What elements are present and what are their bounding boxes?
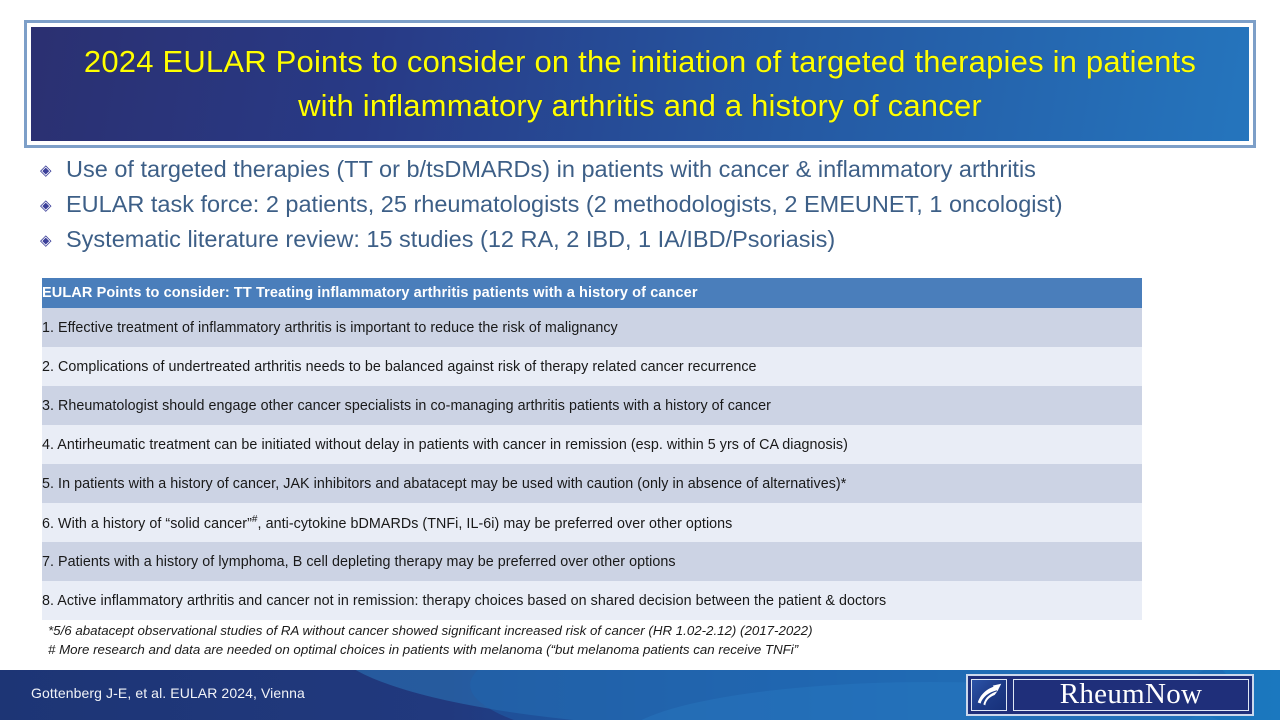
table-header-label: EULAR Points to consider: TT Treating in… (42, 278, 1142, 308)
point-text: 4. Antirheumatic treatment can be initia… (42, 425, 1142, 464)
point-text: 8. Active inflammatory arthritis and can… (42, 581, 1142, 620)
rheumnow-wordmark: RheumNow (1013, 679, 1249, 711)
point-text: 5. In patients with a history of cancer,… (42, 464, 1142, 503)
table-row: 6. With a history of “solid cancer”#, an… (42, 503, 1142, 542)
point-text-with-superscript: 6. With a history of “solid cancer”#, an… (42, 503, 1142, 542)
bullet-label: Systematic literature review: 15 studies… (66, 226, 835, 253)
point-text: 2. Complications of undertreated arthrit… (42, 347, 1142, 386)
point-text: 7. Patients with a history of lymphoma, … (42, 542, 1142, 581)
table-row: 5. In patients with a history of cancer,… (42, 464, 1142, 503)
table-row: 4. Antirheumatic treatment can be initia… (42, 425, 1142, 464)
slide-canvas: 2024 EULAR Points to consider on the ini… (0, 0, 1280, 720)
diamond-bullet-icon: ◈ (40, 163, 66, 178)
footnote-asterisk: *5/6 abatacept observational studies of … (48, 622, 1148, 641)
diamond-bullet-icon: ◈ (40, 198, 66, 213)
table-row: 2. Complications of undertreated arthrit… (42, 347, 1142, 386)
title-banner-fill: 2024 EULAR Points to consider on the ini… (31, 27, 1249, 141)
bullet-label: EULAR task force: 2 patients, 25 rheumat… (66, 191, 1063, 218)
point-text: 3. Rheumatologist should engage other ca… (42, 386, 1142, 425)
title-banner: 2024 EULAR Points to consider on the ini… (24, 20, 1256, 148)
table-row: 1. Effective treatment of inflammatory a… (42, 308, 1142, 347)
rheumnow-logo: RheumNow (966, 674, 1254, 716)
diamond-bullet-icon: ◈ (40, 233, 66, 248)
list-item: ◈ EULAR task force: 2 patients, 25 rheum… (40, 191, 1240, 226)
table-row: 8. Active inflammatory arthritis and can… (42, 581, 1142, 620)
list-item: ◈ Use of targeted therapies (TT or b/tsD… (40, 156, 1240, 191)
page-title: 2024 EULAR Points to consider on the ini… (31, 40, 1249, 128)
table-row: 7. Patients with a history of lymphoma, … (42, 542, 1142, 581)
list-item: ◈ Systematic literature review: 15 studi… (40, 226, 1240, 261)
swoosh-icon-svg (972, 680, 1006, 710)
footnote-hash: # More research and data are needed on o… (48, 641, 1148, 660)
summary-bullet-list: ◈ Use of targeted therapies (TT or b/tsD… (40, 156, 1240, 261)
table-row: 3. Rheumatologist should engage other ca… (42, 386, 1142, 425)
points-to-consider-table: EULAR Points to consider: TT Treating in… (42, 278, 1142, 620)
citation-text: Gottenberg J-E, et al. EULAR 2024, Vienn… (31, 685, 305, 701)
point-text: 1. Effective treatment of inflammatory a… (42, 308, 1142, 347)
point-text-post: , anti-cytokine bDMARDs (TNFi, IL-6i) ma… (258, 515, 733, 531)
point-text-pre: 6. With a history of “solid cancer” (42, 515, 252, 531)
table-header-row: EULAR Points to consider: TT Treating in… (42, 278, 1142, 308)
bullet-label: Use of targeted therapies (TT or b/tsDMA… (66, 156, 1036, 183)
rheumnow-swoosh-mark-icon (971, 679, 1007, 711)
footnotes: *5/6 abatacept observational studies of … (48, 622, 1148, 660)
